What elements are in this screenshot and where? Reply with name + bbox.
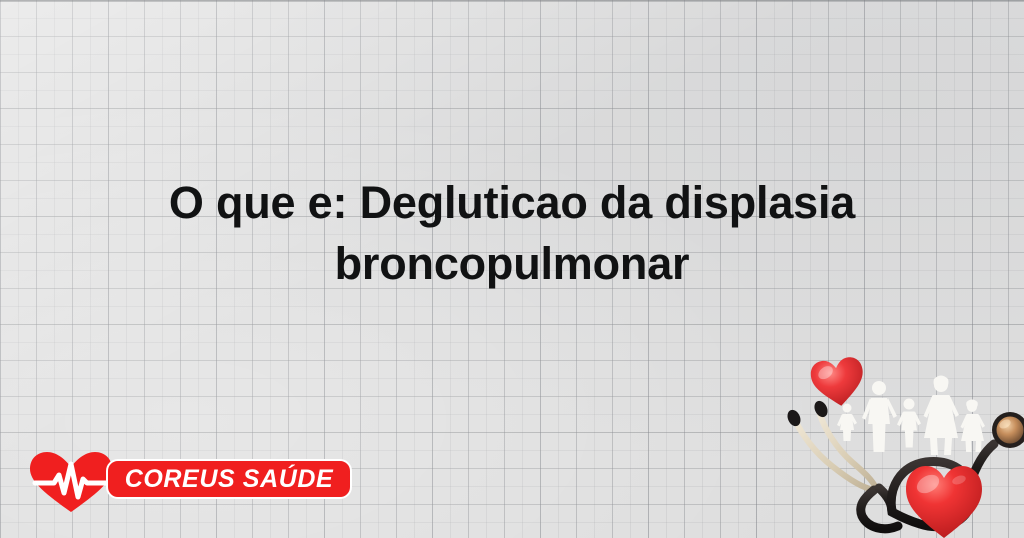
- page-title: O que e: Degluticao da displasia broncop…: [62, 172, 962, 294]
- brand-name-label: COREUS SAÚDE: [125, 465, 334, 494]
- family-silhouette-icon: [837, 376, 985, 456]
- brand-badge: COREUS SAÚDE: [106, 459, 352, 499]
- heart-ecg-icon: [28, 450, 114, 514]
- slide-canvas: O que e: Degluticao da displasia broncop…: [0, 0, 1024, 538]
- top-edge-line: [0, 0, 1024, 2]
- health-care-illustration: [780, 348, 1024, 538]
- brand-logo: COREUS SAÚDE: [28, 448, 354, 514]
